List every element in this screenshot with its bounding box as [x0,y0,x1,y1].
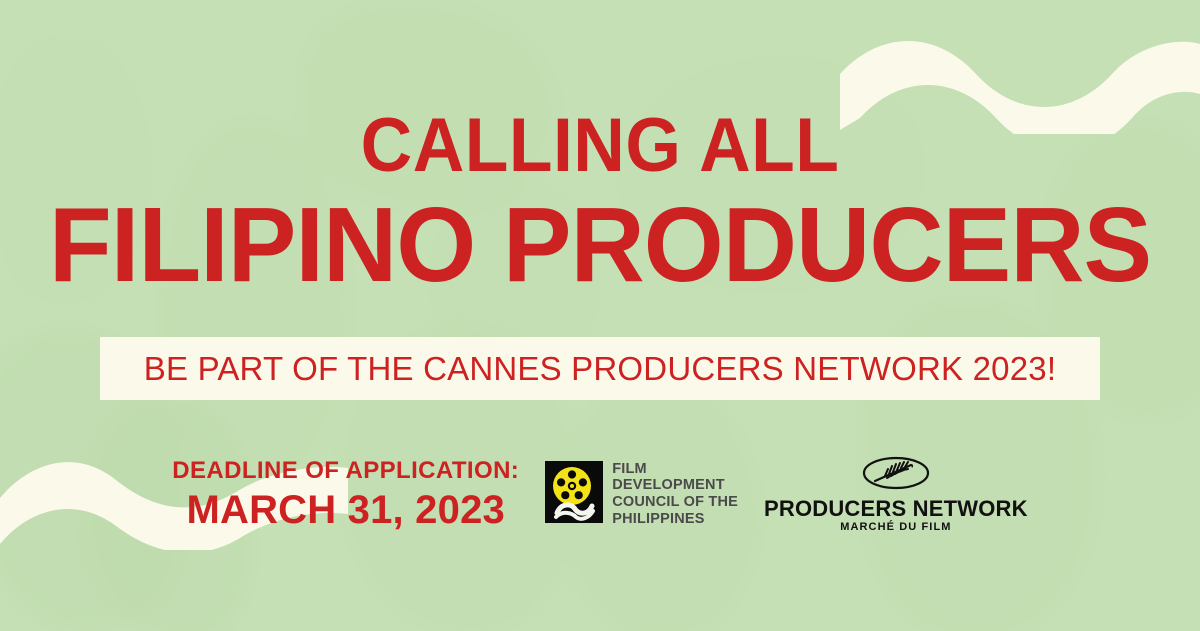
producers-network-logo: PRODUCERS NETWORK MARCHÉ DU FILM [764,455,1028,533]
subtitle-banner: BE PART OF THE CANNES PRODUCERS NETWORK … [100,337,1100,400]
producers-network-title: PRODUCERS NETWORK [764,498,1028,520]
producers-network-subtitle: MARCHÉ DU FILM [840,522,951,533]
headline-line-1: CALLING ALL [36,108,1164,184]
fdcp-logo: FILM DEVELOPMENT COUNCIL OF THE PHILIPPI… [545,461,738,528]
headline-line-2: FILIPINO PRODUCERS [18,192,1182,298]
fdcp-line-4: PHILIPPINES [612,511,738,528]
film-reel-icon [545,461,603,528]
deadline-label: DEADLINE OF APPLICATION: [172,459,519,483]
fdcp-line-3: COUNCIL OF THE [612,494,738,511]
cannes-palm-leaf-icon [861,455,931,496]
fdcp-name: FILM DEVELOPMENT COUNCIL OF THE PHILIPPI… [612,461,738,527]
deadline-date: MARCH 31, 2023 [172,490,519,530]
promotional-poster: CALLING ALL FILIPINO PRODUCERS BE PART O… [0,0,1200,631]
headline-block: CALLING ALL FILIPINO PRODUCERS [0,108,1200,298]
subtitle-text: BE PART OF THE CANNES PRODUCERS NETWORK … [144,350,1056,388]
fdcp-line-1: FILM [612,461,738,478]
footer-row: DEADLINE OF APPLICATION: MARCH 31, 2023 [0,448,1200,540]
fdcp-line-2: DEVELOPMENT [612,477,738,494]
deadline-block: DEADLINE OF APPLICATION: MARCH 31, 2023 [172,459,519,530]
